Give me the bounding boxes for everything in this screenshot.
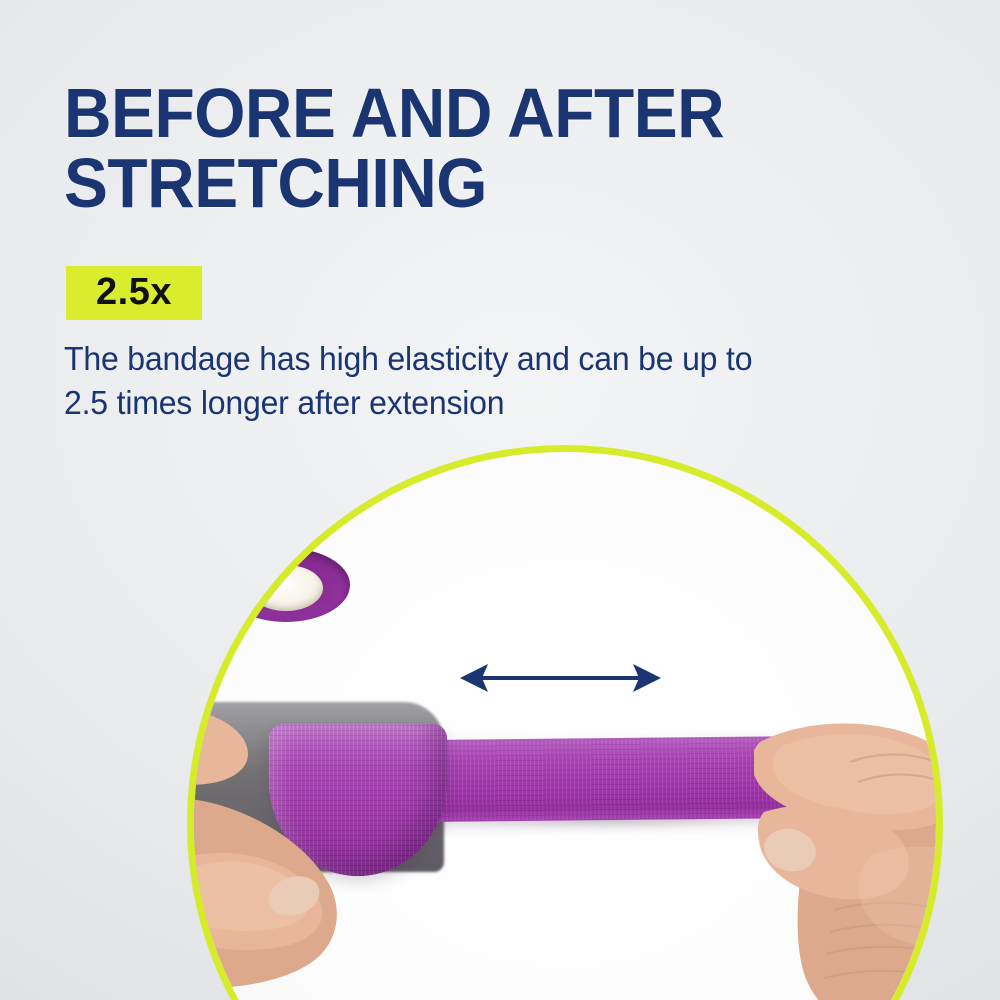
stretch-arrow-icon xyxy=(458,658,663,698)
bandage-weave-texture xyxy=(430,736,803,822)
bandage-roll-core xyxy=(249,565,323,611)
right-hand xyxy=(754,704,936,1000)
product-infographic-poster: BEFORE AND AFTER STRETCHING 2.5x The ban… xyxy=(0,0,1000,1000)
stretched-bandage-strip xyxy=(430,736,803,822)
left-hand xyxy=(194,700,406,1000)
page-title: BEFORE AND AFTER STRETCHING xyxy=(64,78,816,218)
product-photo xyxy=(194,452,936,1000)
description-text: The bandage has high elasticity and can … xyxy=(64,337,869,425)
product-photo-circle-frame xyxy=(194,452,936,1000)
multiplier-badge: 2.5x xyxy=(66,266,202,320)
